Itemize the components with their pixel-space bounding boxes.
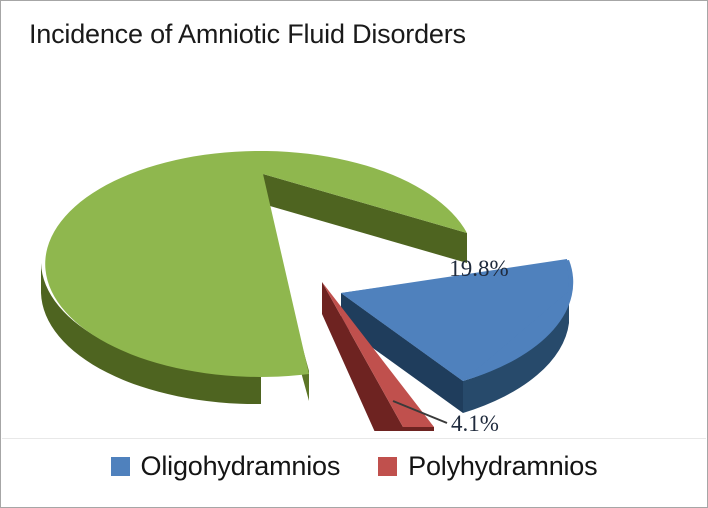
chart-frame: Incidence of Amniotic Fluid Disorders bbox=[0, 0, 708, 508]
chart-legend: Oligohydramnios Polyhydramnios bbox=[1, 444, 707, 488]
legend-swatch-oligohydramnios bbox=[111, 457, 130, 476]
legend-label-oligohydramnios: Oligohydramnios bbox=[141, 451, 341, 482]
pie-label-oligohydramnios: 19.8% bbox=[449, 256, 508, 281]
legend-item-polyhydramnios[interactable]: Polyhydramnios bbox=[378, 451, 597, 482]
legend-label-polyhydramnios: Polyhydramnios bbox=[408, 451, 597, 482]
pie-label-polyhydramnios: 4.1% bbox=[451, 411, 499, 431]
legend-item-oligohydramnios[interactable]: Oligohydramnios bbox=[111, 451, 341, 482]
legend-swatch-polyhydramnios bbox=[378, 457, 397, 476]
legend-divider bbox=[2, 438, 706, 439]
pie-plot-area[interactable]: 19.8% 4.1% bbox=[1, 61, 707, 431]
chart-title: Incidence of Amniotic Fluid Disorders bbox=[29, 19, 466, 50]
pie-chart-svg: 19.8% 4.1% bbox=[1, 61, 707, 431]
